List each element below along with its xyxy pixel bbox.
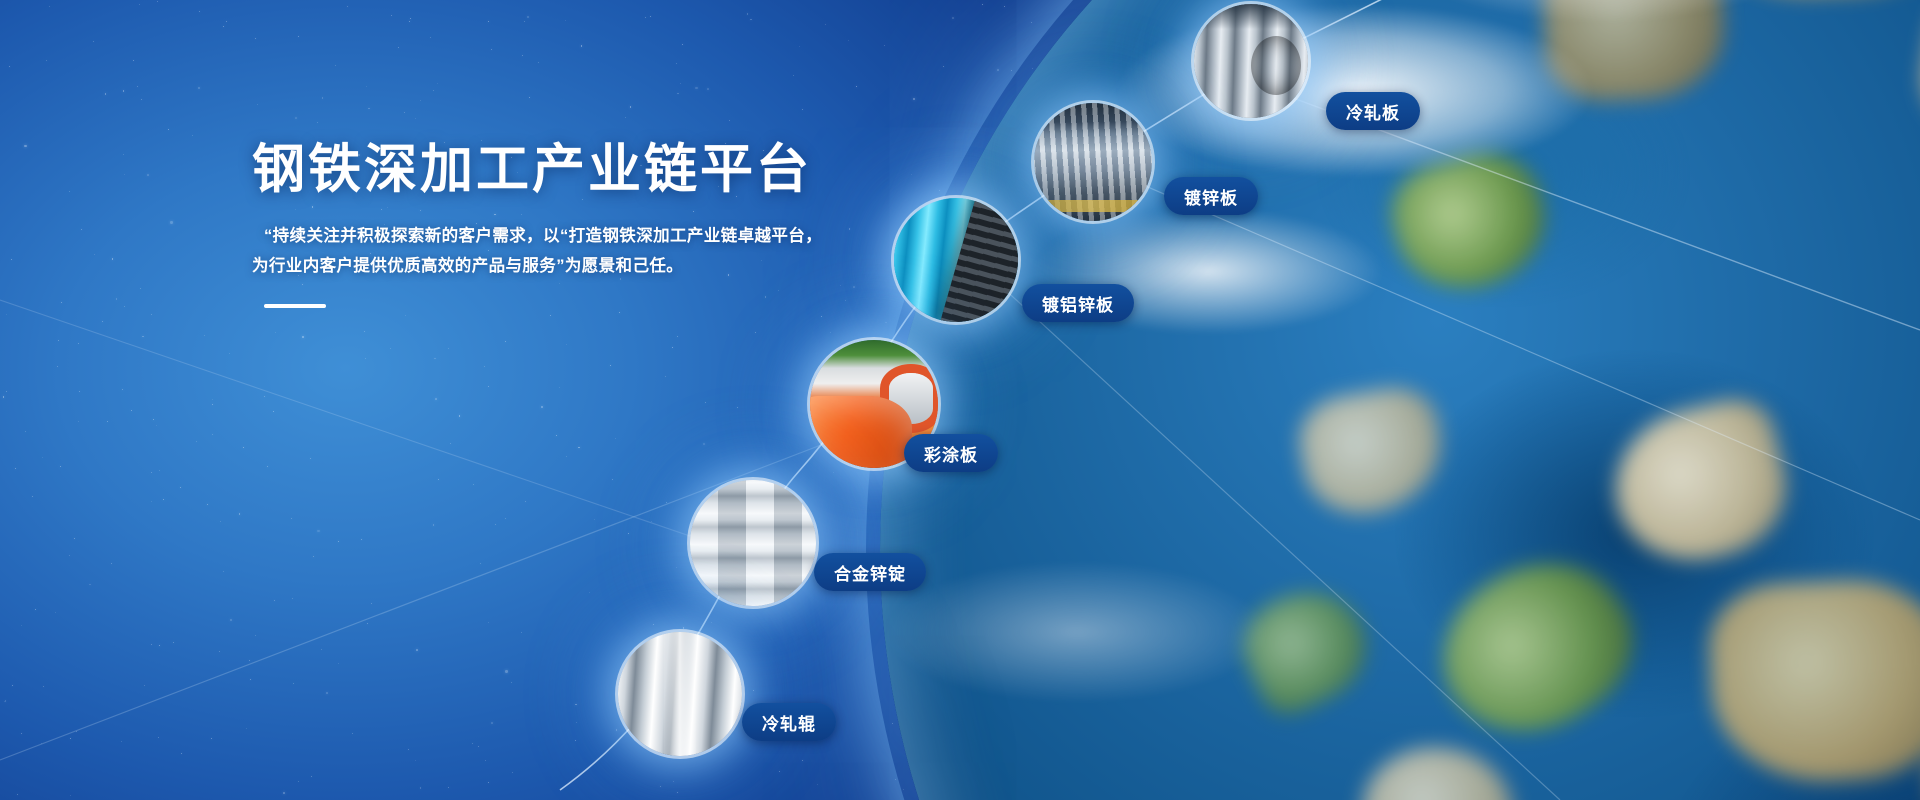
steel-coil-photo bbox=[1194, 4, 1308, 118]
title-underline-rule bbox=[264, 304, 326, 308]
hero-subtitle: “持续关注并积极探索新的客户需求，以“打造钢铁深加工产业链卓越平台， 为行业内客… bbox=[252, 221, 892, 282]
product-image-zinc-alloy-ingot[interactable] bbox=[690, 480, 816, 606]
hero-banner: 冷轧板 镀锌板 镀铝锌板 彩涂板 合金锌锭 冷轧辊 钢铁深加工 bbox=[0, 0, 1920, 800]
page-title: 钢铁深加工产业链平台 bbox=[252, 140, 892, 201]
product-tag-5[interactable]: 冷轧辊 bbox=[742, 703, 836, 741]
aluzinc-coil-photo bbox=[894, 198, 1018, 322]
hero-subtitle-line-2: 为行业内客户提供优质高效的产品与服务”为愿景和己任。 bbox=[252, 251, 892, 282]
product-tag-2[interactable]: 镀铝锌板 bbox=[1022, 284, 1134, 322]
product-tag-4[interactable]: 合金锌锭 bbox=[814, 553, 926, 591]
product-tag-1[interactable]: 镀锌板 bbox=[1164, 177, 1258, 215]
product-tag-3[interactable]: 彩涂板 bbox=[904, 434, 998, 472]
product-image-galvanized-sheet[interactable] bbox=[1034, 103, 1152, 221]
galvanized-warehouse-photo bbox=[1034, 103, 1152, 221]
product-image-cold-rolling-roll[interactable] bbox=[618, 632, 742, 756]
cold-rolling-roll-photo bbox=[618, 632, 742, 756]
hero-subtitle-line-1: “持续关注并积极探索新的客户需求，以“打造钢铁深加工产业链卓越平台， bbox=[252, 221, 892, 252]
product-image-cold-rolled-sheet[interactable] bbox=[1194, 4, 1308, 118]
product-image-aluzinc-sheet[interactable] bbox=[894, 198, 1018, 322]
zinc-ingot-photo bbox=[690, 480, 816, 606]
product-tag-0[interactable]: 冷轧板 bbox=[1326, 92, 1420, 130]
hero-copy-block: 钢铁深加工产业链平台 “持续关注并积极探索新的客户需求，以“打造钢铁深加工产业链… bbox=[252, 140, 892, 308]
